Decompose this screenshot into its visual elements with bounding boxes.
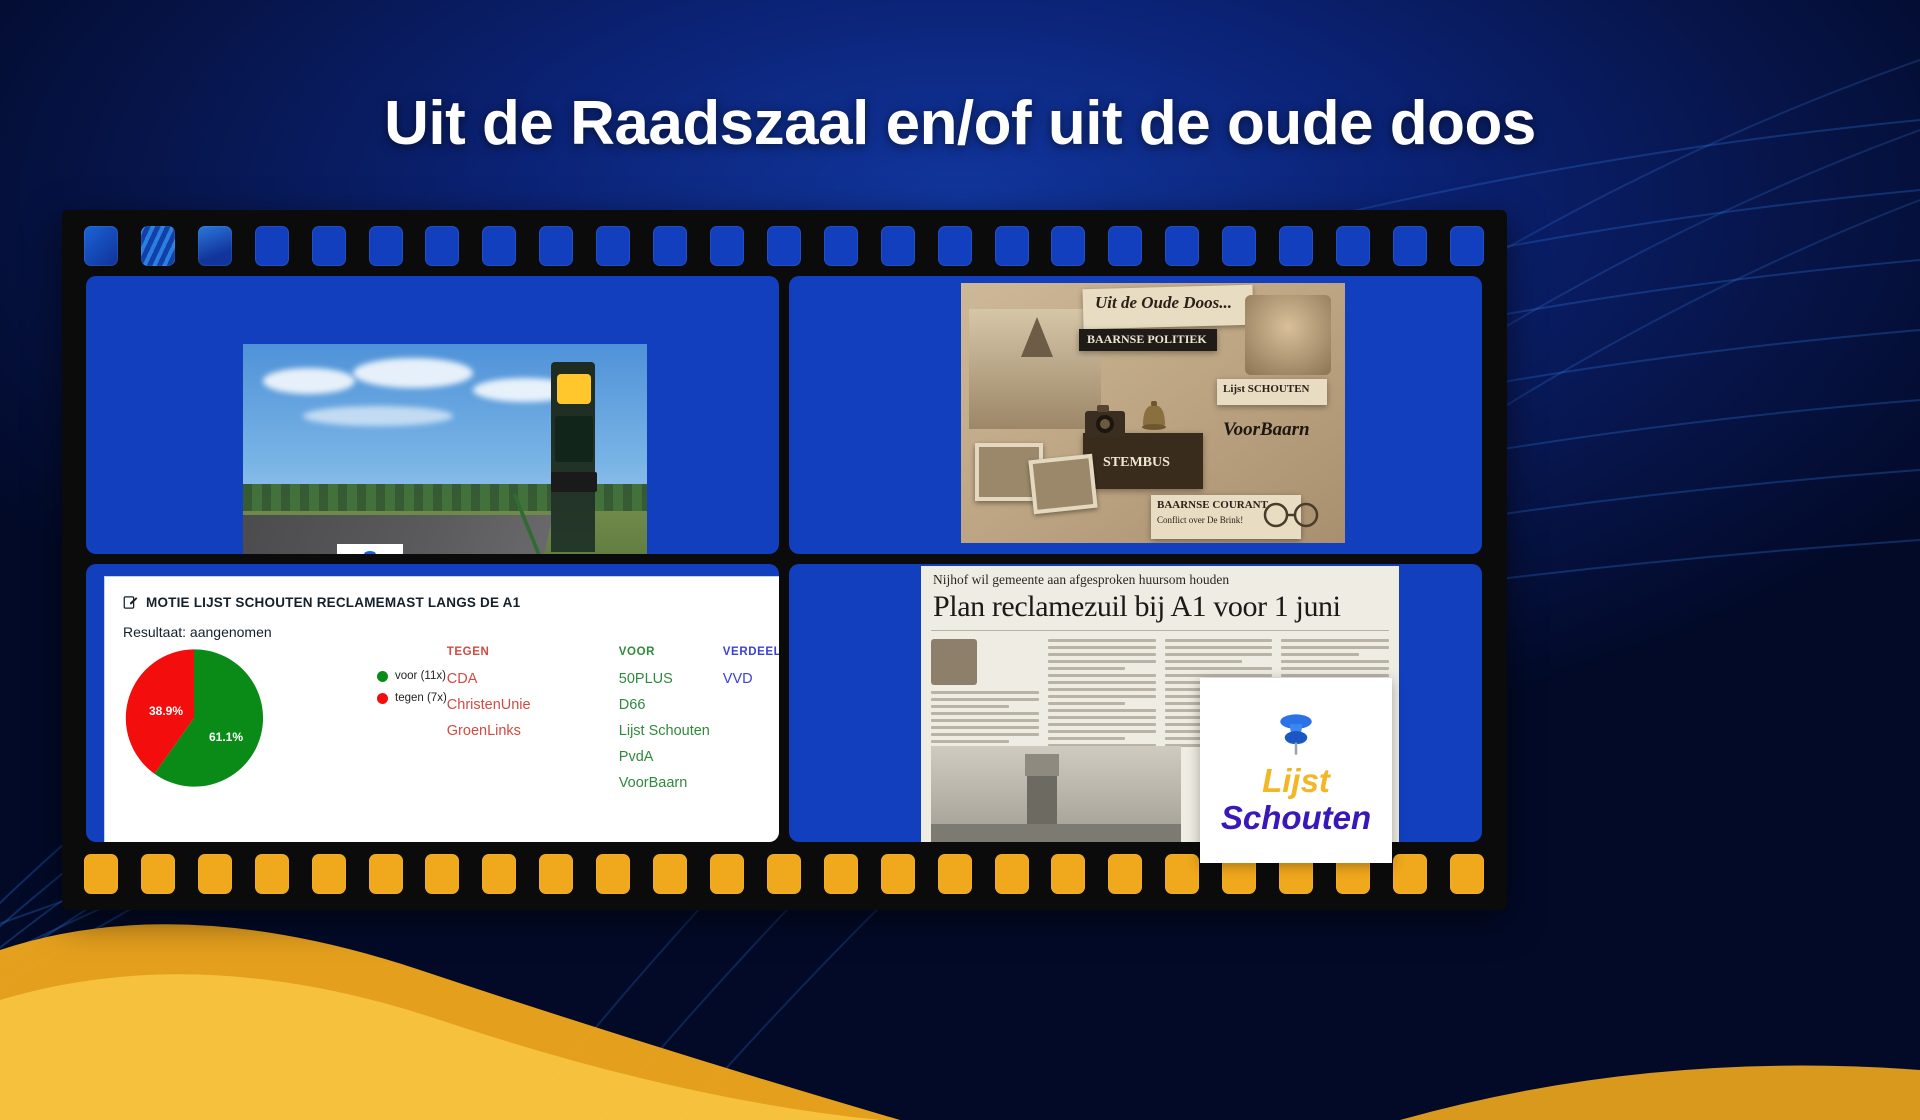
sprocket-hole xyxy=(1393,854,1427,894)
lijst-schouten-logo-small: Lijst Schouten xyxy=(337,544,403,554)
sprocket-hole xyxy=(141,226,175,266)
sprocket-hole xyxy=(482,226,516,266)
sprocket-hole xyxy=(84,854,118,894)
sprocket-hole xyxy=(881,226,915,266)
sprocket-hole xyxy=(1450,854,1484,894)
sprocket-hole xyxy=(938,226,972,266)
pie-chart-svg xyxy=(121,644,267,792)
sprocket-hole xyxy=(1336,226,1370,266)
sprocket-hole xyxy=(369,226,403,266)
cloud xyxy=(263,368,355,394)
pushpin-icon xyxy=(1269,705,1323,763)
courant-title: BAARNSE COURANT xyxy=(1157,499,1268,511)
sprocket-hole xyxy=(1222,226,1256,266)
lijst-schouten-logo-large: Lijst Schouten xyxy=(1200,678,1392,863)
frame-reclamemast-render: Lijst Schouten xyxy=(86,276,779,554)
sprocket-hole xyxy=(84,226,118,266)
motion-vote-panel: MOTIE LIJST SCHOUTEN RECLAMEMAST LANGS D… xyxy=(104,576,779,842)
vote-columns: TEGEN CDA ChristenUnie GroenLinks VOOR 5… xyxy=(447,644,779,801)
sprocket-hole xyxy=(539,226,573,266)
column-header-tegen: TEGEN xyxy=(447,646,619,658)
sprocket-hole xyxy=(767,226,801,266)
page-title: Uit de Raadszaal en/of uit de oude doos xyxy=(0,88,1920,159)
sprocket-hole xyxy=(425,854,459,894)
pie-label-voor: 61.1% xyxy=(209,730,243,744)
sprocket-hole xyxy=(596,854,630,894)
newspaper-kicker: Nijhof wil gemeente aan afgesproken huur… xyxy=(921,566,1399,588)
column-header-voor: VOOR xyxy=(619,646,723,658)
sprocket-hole xyxy=(824,226,858,266)
tower-roof xyxy=(1021,317,1053,357)
column-verdeeld: VERDEELD VVD xyxy=(723,646,779,801)
newspaper-headline: Plan reclamezuil bij A1 voor 1 juni xyxy=(921,588,1399,624)
politician-portrait xyxy=(1245,295,1331,375)
motion-result: Resultaat: aangenomen xyxy=(105,610,779,640)
oude-doos-collage-photo: Uit de Oude Doos... BAARNSE POLITIEK LTS… xyxy=(961,283,1345,543)
voorbaarn-text: VoorBaarn xyxy=(1223,419,1310,441)
sprocket-hole xyxy=(312,226,346,266)
sprocket-hole xyxy=(596,226,630,266)
sprocket-hole xyxy=(653,226,687,266)
sprocket-hole xyxy=(1108,226,1142,266)
party-christenunie: ChristenUnie xyxy=(447,697,619,713)
chart-legend: voor (11x) tegen (7x) xyxy=(371,644,447,801)
sprocket-hole xyxy=(1051,226,1085,266)
newspaper-photo-reclamezuil xyxy=(931,746,1181,842)
sprocket-hole xyxy=(482,854,516,894)
mccafe-sign-icon xyxy=(551,472,597,492)
photo-billboard xyxy=(1025,754,1059,776)
party-cda: CDA xyxy=(447,671,619,687)
sprocket-hole xyxy=(255,854,289,894)
sprocket-hole xyxy=(995,226,1029,266)
courant-subtitle: Conflict over De Brink! xyxy=(1157,515,1243,525)
column-tegen: TEGEN CDA ChristenUnie GroenLinks xyxy=(447,646,619,801)
mcdonalds-logo-icon xyxy=(557,374,591,404)
pushpin-icon xyxy=(360,548,380,555)
party-d66: D66 xyxy=(619,697,723,713)
logo-line-1: Lijst xyxy=(1262,763,1330,799)
motion-header: MOTIE LIJST SCHOUTEN RECLAMEMAST LANGS D… xyxy=(105,577,779,610)
party-vvd: VVD xyxy=(723,671,779,687)
vote-pie-chart: 38.9% 61.1% xyxy=(105,644,371,801)
legend-item-voor: voor (11x) xyxy=(377,670,447,682)
bell-icon xyxy=(1137,399,1171,439)
sprocket-hole xyxy=(710,226,744,266)
sprocket-hole xyxy=(653,854,687,894)
legend-dot-voor xyxy=(377,671,388,682)
camera-icon xyxy=(1081,399,1129,443)
sprocket-hole xyxy=(1450,226,1484,266)
byline-portrait xyxy=(931,639,977,685)
sprocket-hole xyxy=(198,854,232,894)
party-50plus: 50PLUS xyxy=(619,671,723,687)
deer-sign-icon xyxy=(555,416,593,462)
edit-document-icon xyxy=(123,595,138,610)
sprocket-hole xyxy=(938,854,972,894)
sprocket-hole xyxy=(824,854,858,894)
party-pvda: PvdA xyxy=(619,749,723,765)
film-sprockets-top xyxy=(84,224,1484,268)
sprocket-hole xyxy=(710,854,744,894)
sprocket-hole xyxy=(369,854,403,894)
sprocket-hole xyxy=(1393,226,1427,266)
legend-item-tegen: tegen (7x) xyxy=(377,692,447,704)
legend-label-tegen: tegen (7x) xyxy=(395,692,447,704)
motion-title: MOTIE LIJST SCHOUTEN RECLAMEMAST LANGS D… xyxy=(146,595,520,610)
sprocket-hole xyxy=(1108,854,1142,894)
photo-foreground xyxy=(931,824,1181,842)
sprocket-hole xyxy=(995,854,1029,894)
party-voorbaarn: VoorBaarn xyxy=(619,775,723,791)
party-lijst-schouten: Lijst Schouten xyxy=(619,723,723,739)
sprocket-hole xyxy=(1165,854,1199,894)
eyeglasses-icon xyxy=(1261,499,1321,529)
logo-line-2: Schouten xyxy=(1221,799,1371,837)
column-voor: VOOR 50PLUS D66 Lijst Schouten PvdA Voor… xyxy=(619,646,723,801)
legend-label-voor: voor (11x) xyxy=(395,670,446,682)
cloud xyxy=(303,406,453,426)
collage-heading: Uit de Oude Doos... xyxy=(1095,293,1232,313)
sprocket-hole xyxy=(198,226,232,266)
sprocket-hole xyxy=(1051,854,1085,894)
sprocket-hole xyxy=(539,854,573,894)
frame-motion-vote: MOTIE LIJST SCHOUTEN RECLAMEMAST LANGS D… xyxy=(86,564,779,842)
party-groenlinks: GroenLinks xyxy=(447,723,619,739)
stembus-text: STEMBUS xyxy=(1103,455,1170,471)
reclamemast-render-photo: Lijst Schouten xyxy=(243,344,647,554)
sprocket-hole xyxy=(425,226,459,266)
sprocket-hole xyxy=(141,854,175,894)
lijst-schouten-sign-text: Lijst SCHOUTEN xyxy=(1223,383,1310,395)
sprocket-hole xyxy=(312,854,346,894)
sprocket-hole xyxy=(1279,226,1313,266)
sprocket-hole xyxy=(255,226,289,266)
frame-uit-de-oude-doos-collage: Uit de Oude Doos... BAARNSE POLITIEK LTS… xyxy=(789,276,1482,554)
collage-banner-text: BAARNSE POLITIEK xyxy=(1087,332,1207,347)
motion-body: 38.9% 61.1% voor (11x) tegen (7x) xyxy=(105,640,779,801)
sprocket-hole xyxy=(767,854,801,894)
legend-dot-tegen xyxy=(377,693,388,704)
sprocket-hole xyxy=(881,854,915,894)
cloud xyxy=(353,358,473,388)
column-header-verdeeld: VERDEELD xyxy=(723,646,779,658)
pie-label-tegen: 38.9% xyxy=(149,704,183,718)
archive-photo xyxy=(1028,454,1097,514)
sprocket-hole xyxy=(1165,226,1199,266)
